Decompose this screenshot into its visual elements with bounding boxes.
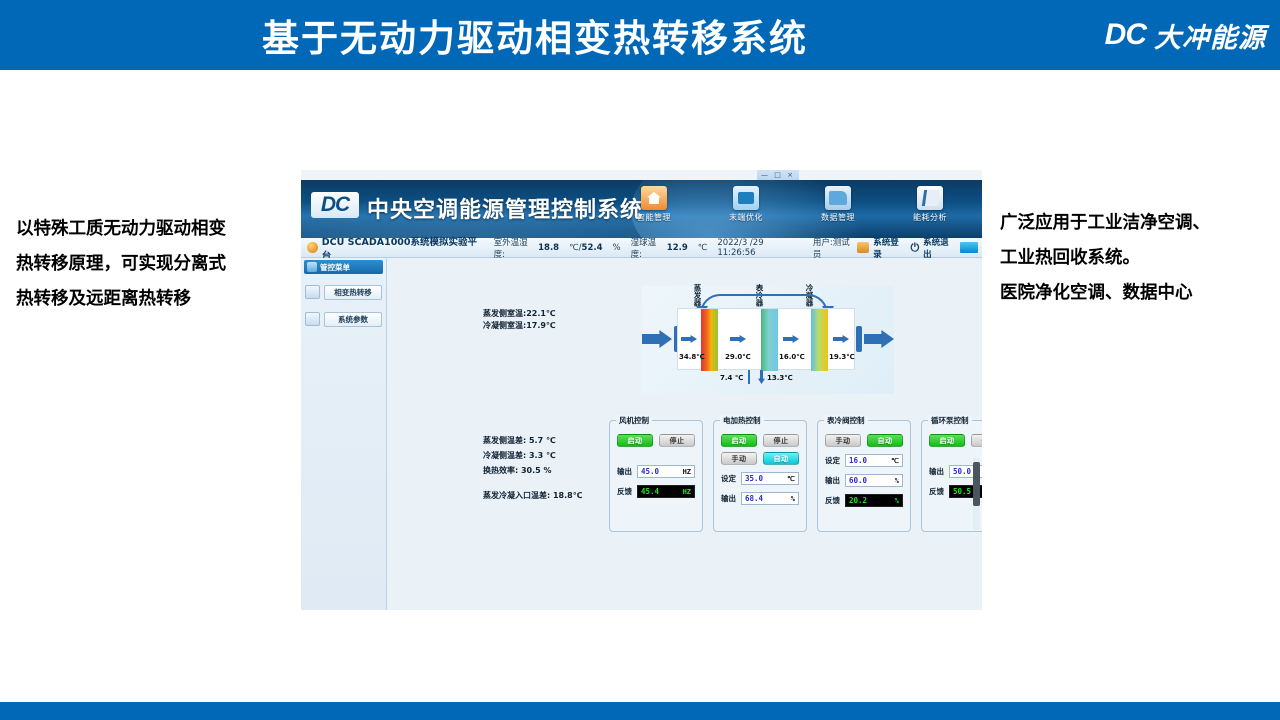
right-caption: 广泛应用于工业洁净空调、 工业热回收系统。 医院净化空调、数据中心 — [1000, 206, 1276, 311]
fan-button-row: 启动 停止 — [610, 434, 702, 447]
heater-output-value: 68.4 — [745, 494, 763, 503]
performance-readouts: 蒸发侧温差: 5.7 ℃ 冷凝侧温差: 3.3 ℃ 换热效率: 30.5 % 蒸… — [483, 433, 582, 503]
menu-icon — [307, 262, 317, 272]
fan-feedback-unit: HZ — [683, 488, 691, 496]
heater-setpoint-label: 设定 — [721, 473, 737, 484]
current-user: 用户:测试员 — [813, 236, 858, 260]
fan-output-field[interactable]: 45.0 HZ — [637, 465, 695, 478]
scada-screenshot: — □ × DC 中央空调能源管理控制系统 智能管理 末端优化 数据管理 能耗分… — [301, 170, 982, 610]
report-icon — [917, 186, 943, 210]
nav-label-0: 智能管理 — [608, 212, 700, 223]
left-caption-line-3: 热转移及远距离热转移 — [16, 282, 296, 317]
condenser-coil — [811, 309, 828, 371]
bottom-temp-2: 13.3℃ — [767, 374, 793, 382]
delta-line-left — [748, 370, 750, 384]
heater-setpoint-row: 设定 35.0 ℃ — [714, 472, 806, 485]
bottom-temp-1: 7.4 ℃ — [720, 374, 743, 382]
nav-item-energy-analysis[interactable]: 能耗分析 — [884, 184, 976, 223]
readout-efficiency: 换热效率: 30.5 % — [483, 463, 582, 478]
fan-output-value: 45.0 — [641, 467, 659, 476]
valve-feedback-unit: % — [895, 497, 899, 505]
slide-header-banner: 基于无动力驱动相变热转移系统 DC 大冲能源 — [0, 0, 1280, 70]
valve-manual-button[interactable]: 手动 — [825, 434, 861, 447]
nav-item-terminal-optimization[interactable]: 末端优化 — [700, 184, 792, 223]
status-indicator-icon — [307, 242, 318, 253]
logo-company-name: 大冲能源 — [1154, 16, 1266, 55]
outdoor-humidity-value: 52.4 — [582, 243, 603, 253]
panel-title-heater: 电加热控制 — [720, 415, 764, 426]
readout-inlet-delta: 蒸发冷凝入口温差: 18.8℃ — [483, 488, 582, 503]
fan-output-row: 输出 45.0 HZ — [610, 465, 702, 478]
outdoor-label: 室外温湿度: — [494, 236, 539, 260]
terminal-icon — [733, 186, 759, 210]
sidebar-header: 管控菜单 — [304, 260, 383, 274]
airflow-arrow-icon — [681, 335, 697, 343]
system-login-link[interactable]: 系统登录 — [873, 236, 906, 260]
sidebar-item-label-1: 系统参数 — [324, 312, 382, 327]
scada-logo-icon: DC — [311, 192, 359, 218]
nav-item-intelligent-management[interactable]: 智能管理 — [608, 184, 700, 223]
left-caption-line-1: 以特殊工质无动力驱动相变 — [16, 212, 296, 247]
fan-output-label: 输出 — [617, 466, 633, 477]
database-icon — [825, 186, 851, 210]
scada-body: 管控菜单 相变热转移 系统参数 蒸发侧室温:22.1℃ 冷凝侧室温:17.9℃ … — [301, 258, 982, 610]
control-panels: 风机控制 启动 停止 输出 45.0 HZ 反馈 — [609, 420, 982, 532]
wetbulb-unit: ℃ — [698, 243, 708, 253]
pump-feedback-value: 50.5 — [953, 487, 971, 496]
user-icon — [857, 242, 869, 253]
panel-electric-heater-control: 电加热控制 启动 停止 手动 自动 设定 35.0 ℃ — [713, 420, 807, 532]
valve-feedback-row: 反馈 20.2 % — [818, 494, 910, 507]
heater-setpoint-unit: ℃ — [787, 475, 795, 483]
panel-title-pump: 循环泵控制 — [928, 415, 972, 426]
panel-fan-control: 风机控制 启动 停止 输出 45.0 HZ 反馈 — [609, 420, 703, 532]
pump-output-label: 输出 — [929, 466, 945, 477]
nav-label-1: 末端优化 — [700, 212, 792, 223]
fan-feedback-field: 45.4 HZ — [637, 485, 695, 498]
heater-button-row-2: 手动 自动 — [714, 452, 806, 465]
slide-footer-bar — [0, 702, 1280, 720]
wetbulb-temp-value: 12.9 — [667, 243, 688, 253]
cooling-coil — [761, 309, 778, 371]
banner-divider — [0, 70, 1280, 73]
readout-cond-delta: 冷凝侧温差: 3.3 ℃ — [483, 448, 582, 463]
heater-stop-button[interactable]: 停止 — [763, 434, 799, 447]
fan-feedback-value: 45.4 — [641, 487, 659, 496]
air-duct-box: 34.8℃ 29.0℃ 16.0℃ 19.3℃ — [677, 308, 855, 370]
fan-feedback-row: 反馈 45.4 HZ — [610, 485, 702, 498]
vertical-scrollbar-thumb[interactable] — [973, 462, 980, 506]
valve-setpoint-label: 设定 — [825, 455, 841, 466]
outdoor-unit-1: ℃/ — [569, 243, 581, 253]
scada-sidebar: 管控菜单 相变热转移 系统参数 — [301, 258, 387, 610]
status-chip-icon — [960, 242, 978, 253]
wetbulb-label: 湿球温度: — [631, 236, 667, 260]
power-icon: ⏻ — [910, 241, 919, 255]
air-outlet-arrow-icon — [864, 330, 894, 348]
valve-setpoint-value: 16.0 — [849, 456, 867, 465]
nav-item-data-management[interactable]: 数据管理 — [792, 184, 884, 223]
airflow-arrow-icon — [833, 335, 849, 343]
heater-manual-button[interactable]: 手动 — [721, 452, 757, 465]
right-caption-line-2: 工业热回收系统。 — [1000, 241, 1276, 276]
heater-setpoint-field[interactable]: 35.0 ℃ — [741, 472, 799, 485]
scada-status-bar: DCU SCADA1000系统模拟实验平台 室外温湿度: 18.8 ℃/ 52.… — [301, 238, 982, 258]
outdoor-unit-2: % — [613, 243, 621, 253]
slide-title: 基于无动力驱动相变热转移系统 — [0, 0, 1070, 70]
heater-button-row-1: 启动 停止 — [714, 434, 806, 447]
scada-stage: 蒸发侧室温:22.1℃ 冷凝侧室温:17.9℃ 蒸发器 表冷器 冷凝器 — [387, 258, 982, 610]
valve-output-row: 输出 60.0 % — [818, 474, 910, 487]
evap-room-temp: 蒸发侧室温:22.1℃ — [483, 308, 556, 320]
sidebar-header-label: 管控菜单 — [320, 262, 350, 273]
company-logo: DC 大冲能源 — [1105, 14, 1266, 56]
left-caption: 以特殊工质无动力驱动相变 热转移原理，可实现分离式 热转移及远距离热转移 — [16, 212, 296, 317]
process-diagram: 蒸发器 表冷器 冷凝器 34.8℃ — [642, 286, 894, 394]
panel-title-cooling-valve: 表冷阀控制 — [824, 415, 868, 426]
air-temp-2: 29.0℃ — [725, 353, 751, 361]
air-temp-3: 16.0℃ — [779, 353, 805, 361]
fan-start-button[interactable]: 启动 — [617, 434, 653, 447]
heater-setpoint-value: 35.0 — [745, 474, 763, 483]
valve-output-unit: % — [895, 477, 899, 485]
valve-output-field[interactable]: 60.0 % — [845, 474, 903, 487]
heater-auto-button[interactable]: 自动 — [763, 452, 799, 465]
heater-start-button[interactable]: 启动 — [721, 434, 757, 447]
valve-feedback-field: 20.2 % — [845, 494, 903, 507]
valve-output-label: 输出 — [825, 475, 841, 486]
status-actions: 系统登录 ⏻ 系统退出 — [857, 236, 982, 260]
scada-app-title: 中央空调能源管理控制系统 — [367, 192, 643, 224]
air-temp-4: 19.3℃ — [829, 353, 855, 361]
fan-stop-button[interactable]: 停止 — [659, 434, 695, 447]
sidebar-item-phase-change[interactable]: 相变热转移 — [305, 283, 382, 301]
logo-mark: DC — [1105, 18, 1146, 52]
fan-feedback-label: 反馈 — [617, 486, 633, 497]
right-caption-line-1: 广泛应用于工业洁净空调、 — [1000, 206, 1276, 241]
valve-setpoint-field[interactable]: 16.0 ℃ — [845, 454, 903, 467]
valve-feedback-label: 反馈 — [825, 495, 841, 506]
module-icon — [305, 312, 320, 326]
sidebar-item-system-params[interactable]: 系统参数 — [305, 310, 382, 328]
air-inlet-arrow-icon — [642, 330, 672, 348]
room-temperature-readout: 蒸发侧室温:22.1℃ 冷凝侧室温:17.9℃ — [483, 308, 556, 332]
evaporator-coil — [701, 309, 718, 371]
valve-output-value: 60.0 — [849, 476, 867, 485]
panel-title-fan: 风机控制 — [616, 415, 652, 426]
datetime-display: 2022/3 /29 11:26:56 — [717, 238, 803, 258]
nav-label-2: 数据管理 — [792, 212, 884, 223]
readout-evap-delta: 蒸发侧温差: 5.7 ℃ — [483, 433, 582, 448]
home-icon — [641, 186, 667, 210]
fan-output-unit: HZ — [683, 468, 691, 476]
cond-room-temp: 冷凝侧室温:17.9℃ — [483, 320, 556, 332]
pump-stop-button[interactable]: 停止 — [971, 434, 982, 447]
pump-start-button[interactable]: 启动 — [929, 434, 965, 447]
sidebar-item-label-0: 相变热转移 — [324, 285, 382, 300]
right-caption-line-3: 医院净化空调、数据中心 — [1000, 276, 1276, 311]
left-caption-line-2: 热转移原理，可实现分离式 — [16, 247, 296, 282]
valve-button-row: 手动 自动 — [818, 434, 910, 447]
system-logout-link[interactable]: 系统退出 — [923, 236, 956, 260]
panel-cooling-valve-control: 表冷阀控制 手动 自动 设定 16.0 ℃ 输出 — [817, 420, 911, 532]
nav-label-3: 能耗分析 — [884, 212, 976, 223]
heater-output-row: 输出 68.4 % — [714, 492, 806, 505]
valve-setpoint-unit: ℃ — [891, 457, 899, 465]
pump-button-row: 启动 停止 — [922, 434, 982, 447]
airflow-arrow-icon — [730, 335, 746, 343]
pump-feedback-label: 反馈 — [929, 486, 945, 497]
delta-arrow-down-icon — [758, 370, 765, 384]
coil-label-evaporator: 蒸发器 — [692, 284, 703, 307]
heater-output-label: 输出 — [721, 493, 737, 504]
valve-setpoint-row: 设定 16.0 ℃ — [818, 454, 910, 467]
valve-auto-button[interactable]: 自动 — [867, 434, 903, 447]
module-icon — [305, 285, 320, 299]
pump-output-value: 50.0 — [953, 467, 971, 476]
scada-header: DC 中央空调能源管理控制系统 智能管理 末端优化 数据管理 能耗分析 — [301, 180, 982, 238]
outdoor-temp-value: 18.8 — [538, 243, 559, 253]
heater-output-unit: % — [791, 495, 795, 503]
air-temp-1: 34.8℃ — [679, 353, 705, 361]
outlet-damper-icon — [856, 326, 862, 352]
airflow-arrow-icon — [783, 335, 799, 343]
valve-feedback-value: 20.2 — [849, 496, 867, 505]
scada-nav: 智能管理 末端优化 数据管理 能耗分析 — [608, 184, 976, 223]
heater-output-field[interactable]: 68.4 % — [741, 492, 799, 505]
